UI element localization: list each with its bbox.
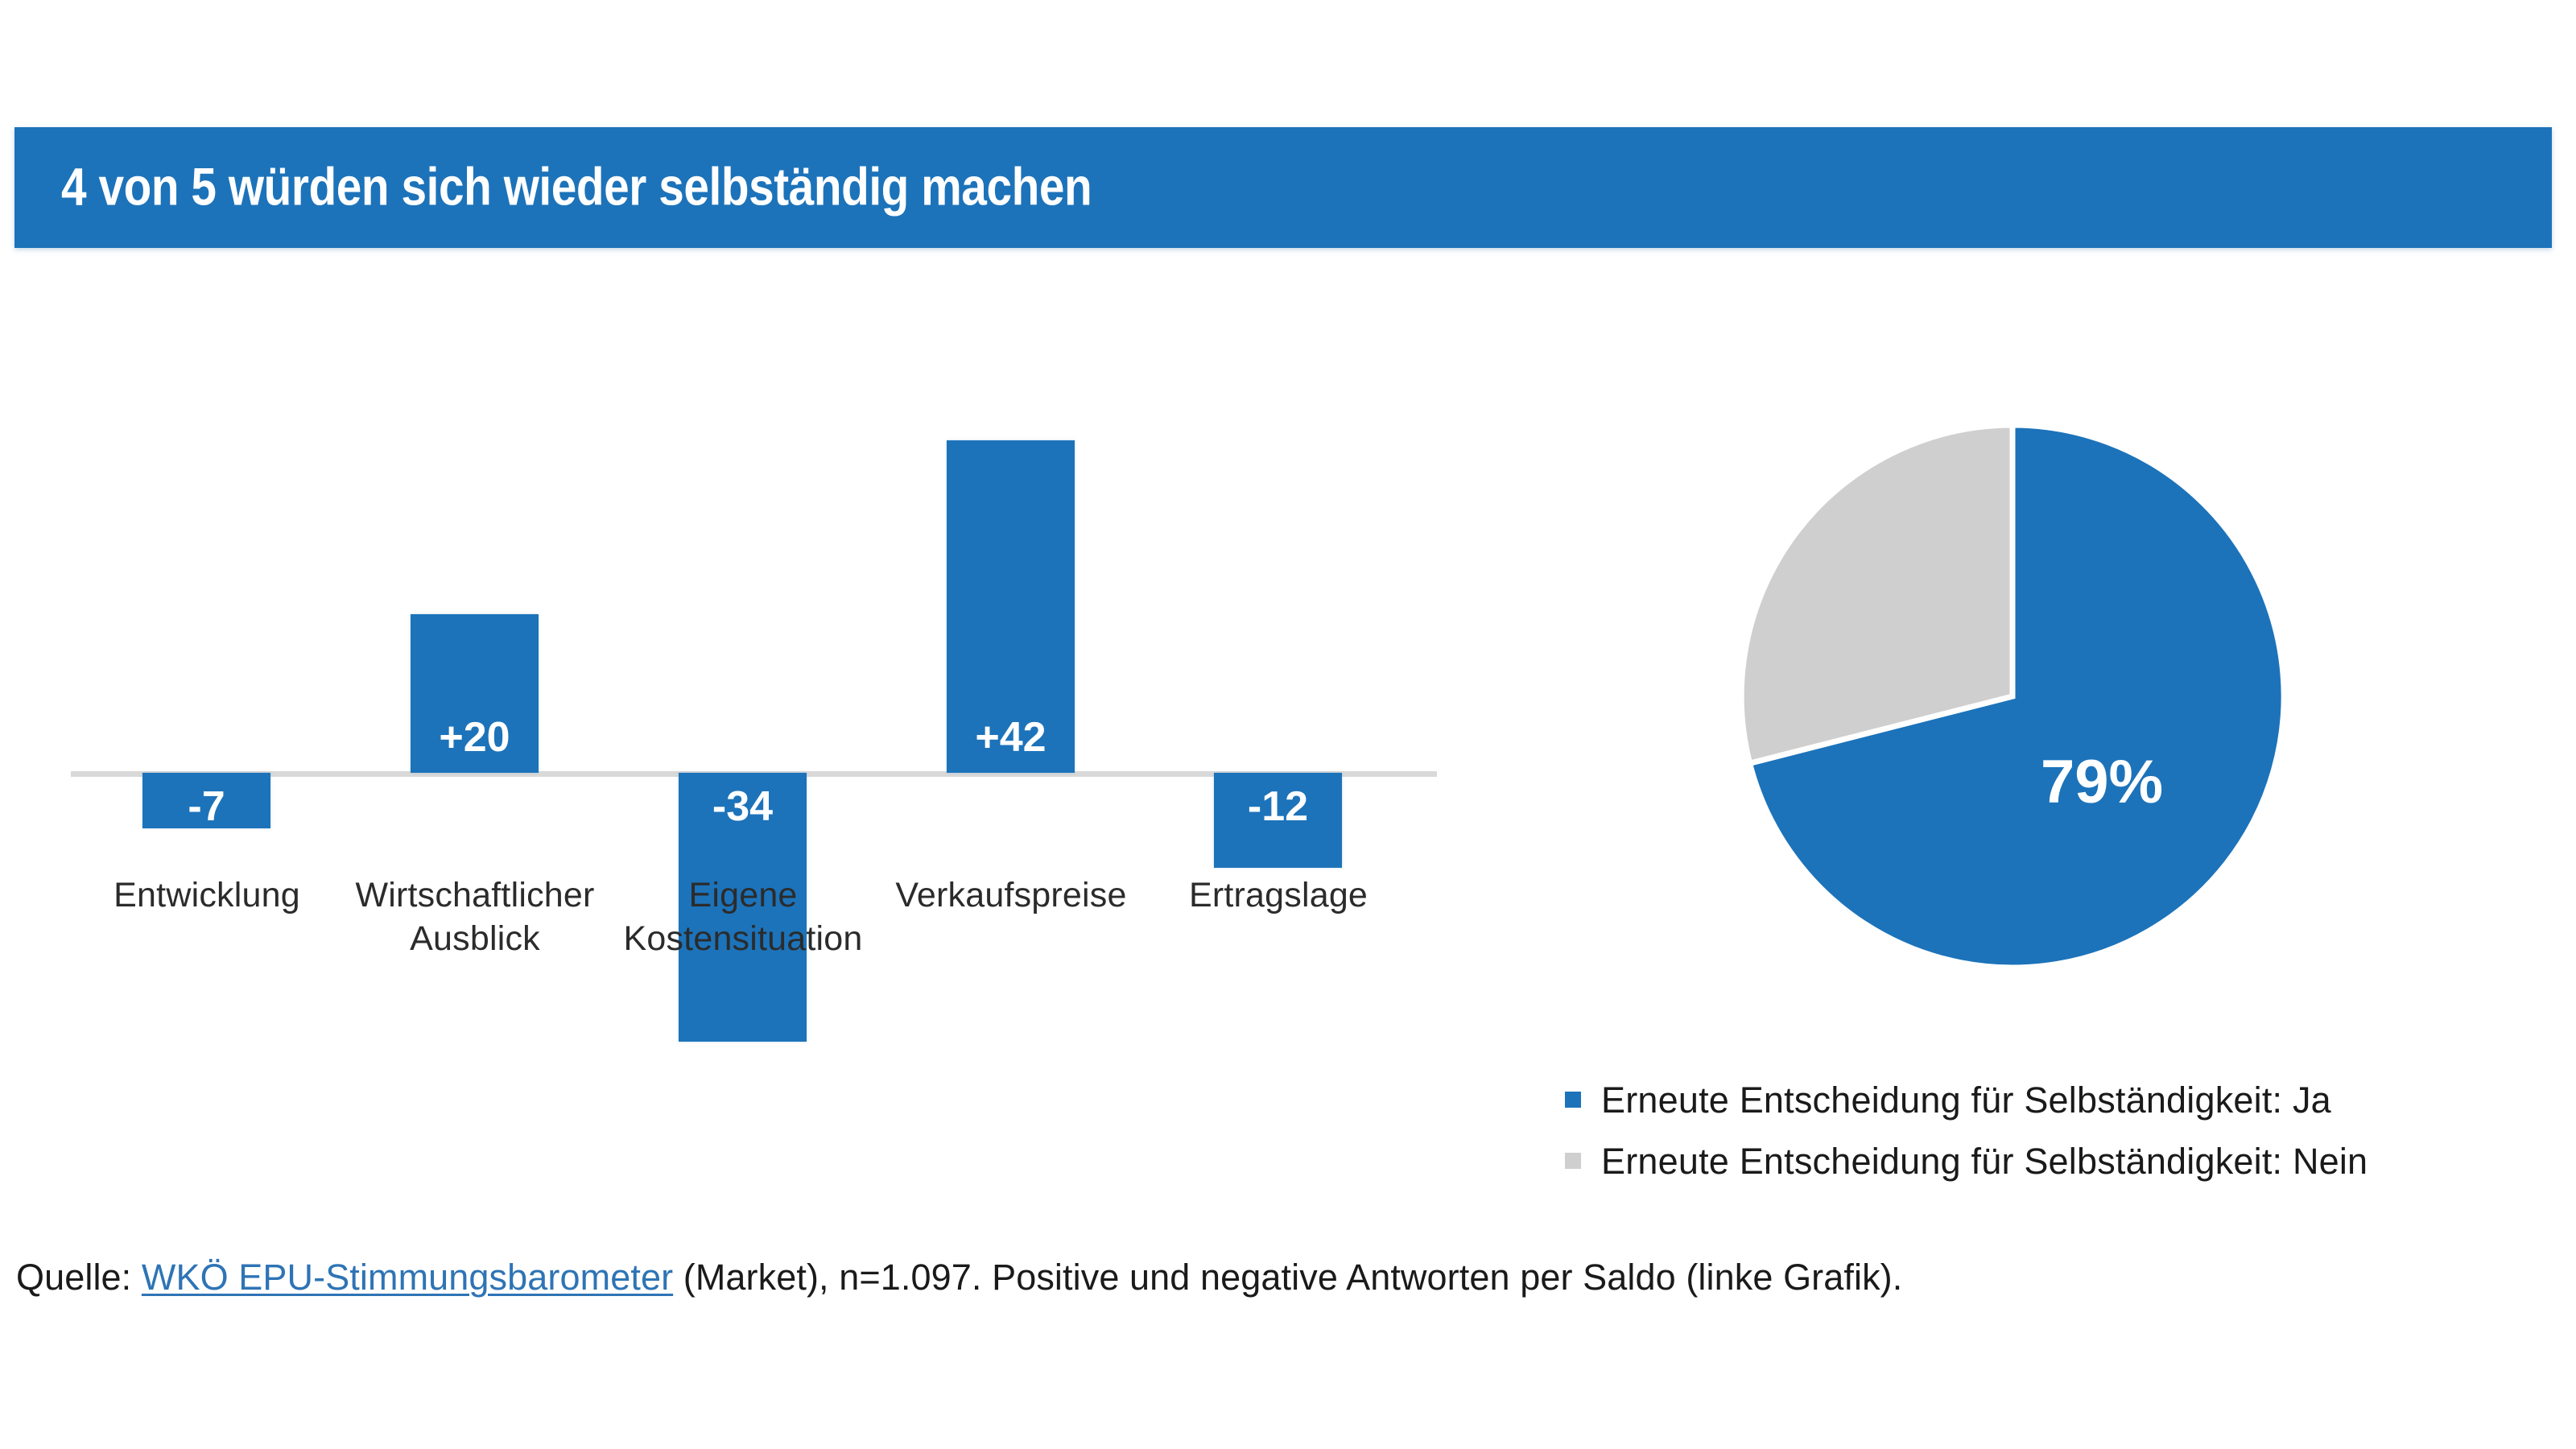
pie-legend: Erneute Entscheidung für Selbständigkeit… [1565, 1073, 2547, 1195]
bar-ertragslage[interactable]: -12 [1214, 773, 1342, 868]
source-prefix: Quelle: [16, 1257, 142, 1298]
bar-value-label: -12 [1214, 782, 1342, 831]
category-label-line2: Kostensituation [597, 917, 889, 960]
category-label-eigene-kostensituation: Eigene Kostensituation [597, 873, 889, 960]
category-label-line1: Entwicklung [61, 873, 353, 917]
legend-label: Erneute Entscheidung für Selbständigkeit… [1601, 1134, 2368, 1189]
legend-swatch-icon [1565, 1092, 1581, 1108]
category-label-line2: Ausblick [329, 917, 621, 960]
pie-chart-svg [1741, 425, 2284, 968]
legend-label: Erneute Entscheidung für Selbständigkeit… [1601, 1073, 2331, 1128]
category-label-line1: Eigene [597, 873, 889, 917]
source-link[interactable]: WKÖ EPU-Stimmungsbarometer [142, 1257, 673, 1298]
bar-value-label: -34 [679, 782, 807, 831]
category-label-line1: Wirtschaftlicher [329, 873, 621, 917]
bar-value-label: +20 [411, 713, 539, 762]
source-suffix: (Market), n=1.097. Positive und negative… [673, 1257, 1902, 1298]
category-label-verkaufspreise: Verkaufspreise [865, 873, 1157, 917]
bar-value-label: -7 [142, 782, 270, 831]
bar-value-label: +42 [947, 713, 1075, 762]
bar-entwicklung[interactable]: -7 [142, 773, 270, 828]
legend-swatch-icon [1565, 1153, 1581, 1169]
pie-value-label: 79% [2041, 747, 2163, 817]
category-label-line1: Verkaufspreise [865, 873, 1157, 917]
legend-item-ja[interactable]: Erneute Entscheidung für Selbständigkeit… [1565, 1073, 2547, 1134]
bar-chart: -7 +20 -34 +42 -12 Entwicklung Wirtschaf… [48, 306, 1465, 1207]
legend-item-nein[interactable]: Erneute Entscheidung für Selbständigkeit… [1565, 1134, 2547, 1195]
bar-verkaufspreise[interactable]: +42 [947, 440, 1075, 773]
chart-area: -7 +20 -34 +42 -12 Entwicklung Wirtschaf… [0, 0, 2576, 1449]
source-note: Quelle: WKÖ EPU-Stimmungsbarometer (Mark… [16, 1253, 1902, 1302]
category-label-entwicklung: Entwicklung [61, 873, 353, 917]
category-label-ertragslage: Ertragslage [1133, 873, 1424, 917]
category-label-wirtschaftlicher-ausblick: Wirtschaftlicher Ausblick [329, 873, 621, 960]
category-label-line1: Ertragslage [1133, 873, 1424, 917]
pie-chart: 79% [1741, 425, 2284, 968]
bar-wirtschaftlicher-ausblick[interactable]: +20 [411, 614, 539, 773]
